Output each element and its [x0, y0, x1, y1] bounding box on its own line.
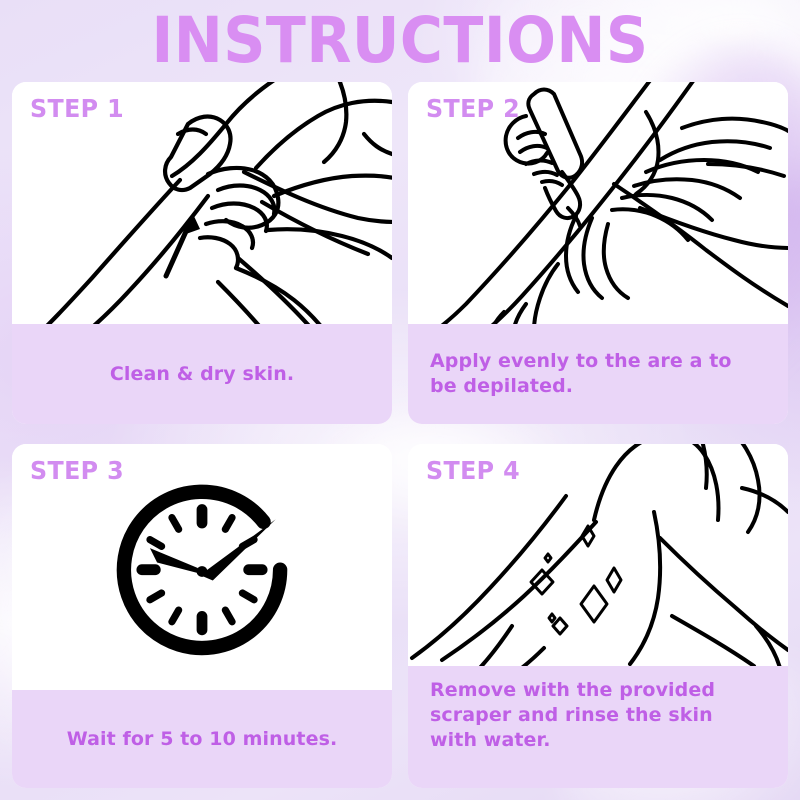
- step-2-illustration: STEP 2: [408, 82, 788, 324]
- step-card-2: STEP 2: [408, 82, 788, 424]
- step-1-caption: Clean & dry skin.: [12, 324, 392, 424]
- step-2-label: STEP 2: [426, 94, 520, 123]
- step-2-caption-line-2: be depilated.: [430, 374, 732, 399]
- step-card-1: STEP 1: [12, 82, 392, 424]
- step-3-illustration: STEP 3: [12, 444, 392, 690]
- step-3-caption-text: Wait for 5 to 10 minutes.: [67, 727, 338, 752]
- step-3-caption: Wait for 5 to 10 minutes.: [12, 690, 392, 788]
- step-2-caption: Apply evenly to the are a to be depilate…: [408, 324, 788, 424]
- step-1-illustration: STEP 1: [12, 82, 392, 324]
- step-4-caption-line-1: Remove with the provided: [430, 678, 715, 703]
- page-title: INSTRUCTIONS: [28, 6, 772, 76]
- step-card-4: STEP 4: [408, 444, 788, 788]
- step-4-label: STEP 4: [426, 456, 520, 485]
- steps-grid: STEP 1: [12, 82, 788, 788]
- step-4-illustration: STEP 4: [408, 444, 788, 666]
- step-1-label: STEP 1: [30, 94, 124, 123]
- instructions-infographic: INSTRUCTIONS STEP 1: [0, 0, 800, 800]
- step-4-caption-line-3: with water.: [430, 728, 715, 753]
- step-4-caption: Remove with the provided scraper and rin…: [408, 666, 788, 788]
- step-card-3: STEP 3: [12, 444, 392, 788]
- step-4-caption-line-2: scraper and rinse the skin: [430, 703, 715, 728]
- step-3-label: STEP 3: [30, 456, 124, 485]
- step-2-caption-line-1: Apply evenly to the are a to: [430, 349, 732, 374]
- step-1-caption-text: Clean & dry skin.: [110, 362, 294, 387]
